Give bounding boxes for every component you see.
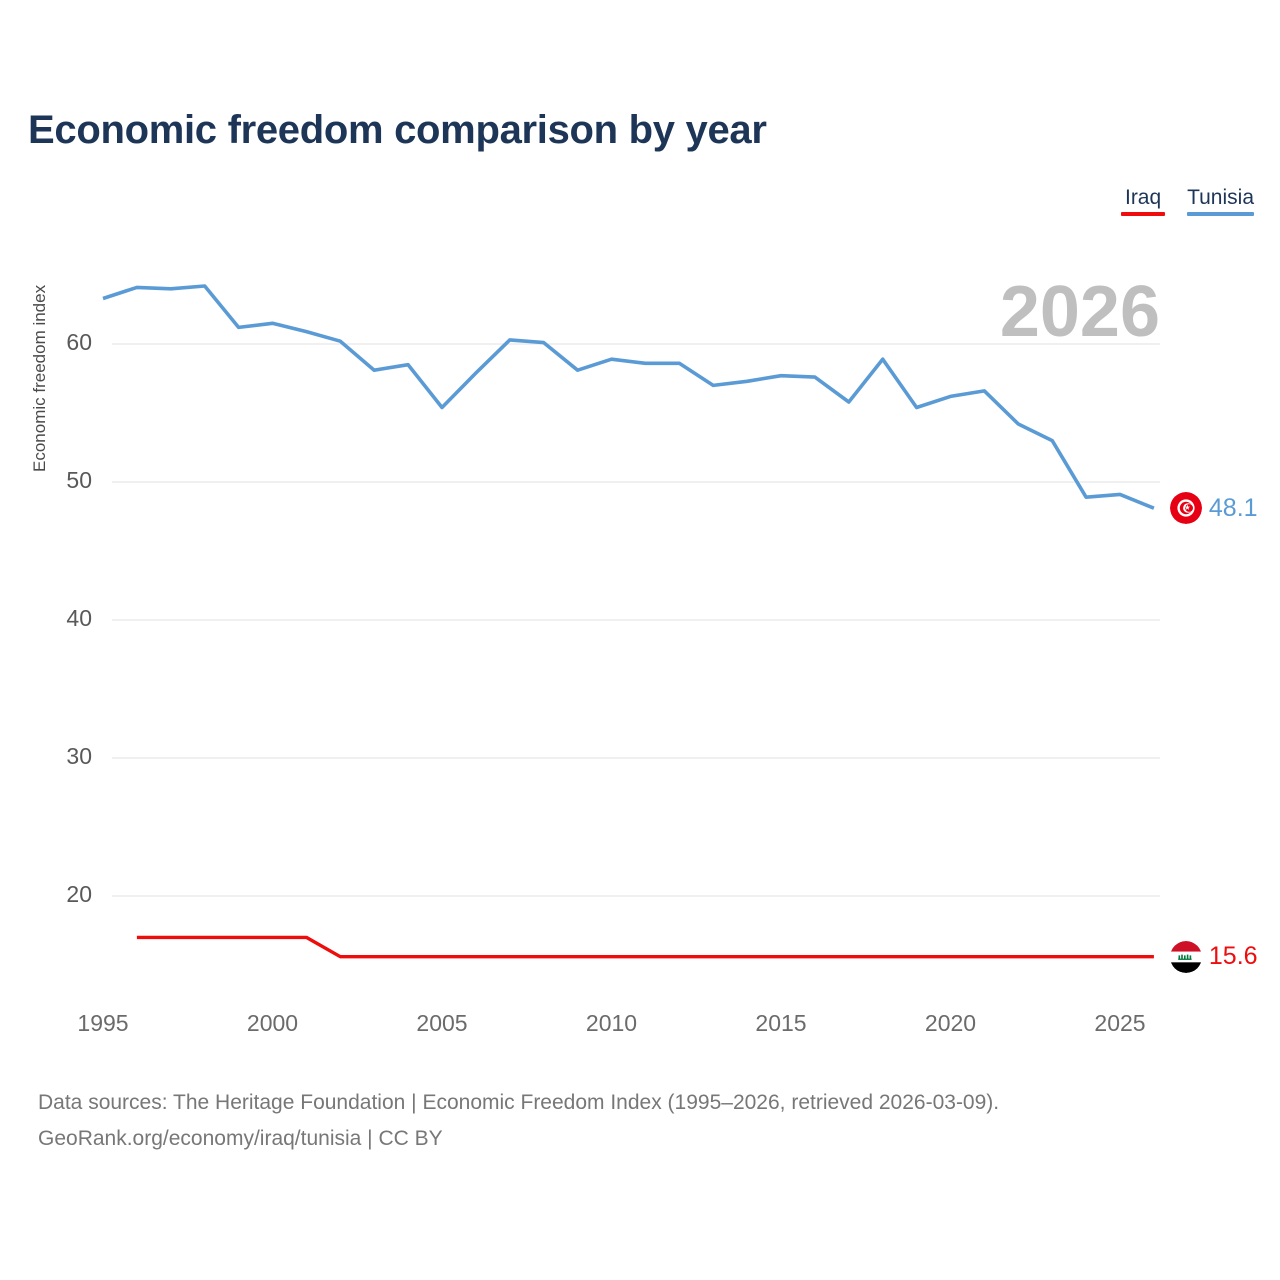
legend-swatch-iraq — [1121, 212, 1165, 216]
endpoint-value-iraq: 15.6 — [1209, 942, 1258, 971]
y-tick-label: 20 — [38, 881, 92, 908]
x-tick-label: 2020 — [925, 1010, 976, 1037]
endpoint-value-tunisia: 48.1 — [1209, 494, 1258, 523]
legend-item-iraq[interactable]: Iraq — [1121, 186, 1165, 216]
iraq-flag-icon — [1170, 941, 1202, 973]
y-axis-title: Economic freedom index — [30, 285, 50, 472]
y-tick-label: 30 — [38, 743, 92, 770]
tunisia-flag-icon — [1170, 492, 1202, 524]
legend-label-iraq: Iraq — [1125, 186, 1161, 210]
chart-container: Economic freedom comparison by year Iraq… — [0, 0, 1280, 1280]
legend-item-tunisia[interactable]: Tunisia — [1187, 186, 1254, 216]
y-tick-label: 50 — [38, 467, 92, 494]
gridlines — [112, 344, 1160, 896]
x-tick-label: 2015 — [755, 1010, 806, 1037]
x-tick-label: 2005 — [416, 1010, 467, 1037]
series-line-iraq — [137, 937, 1154, 956]
page-title: Economic freedom comparison by year — [28, 108, 767, 153]
footer-sources: Data sources: The Heritage Foundation | … — [38, 1085, 999, 1157]
x-tick-label: 1995 — [77, 1010, 128, 1037]
endpoint-tunisia[interactable]: 48.1 — [1170, 492, 1258, 524]
data-lines — [103, 286, 1154, 957]
chart-legend: Iraq Tunisia — [1121, 186, 1254, 216]
y-tick-label: 40 — [38, 605, 92, 632]
legend-swatch-tunisia — [1187, 212, 1254, 216]
endpoint-iraq[interactable]: 15.6 — [1170, 941, 1258, 973]
y-tick-label: 60 — [38, 329, 92, 356]
x-tick-label: 2000 — [247, 1010, 298, 1037]
year-watermark: 2026 — [1000, 276, 1160, 348]
footer-line-2: GeoRank.org/economy/iraq/tunisia | CC BY — [38, 1121, 999, 1157]
series-line-tunisia — [103, 286, 1154, 508]
footer-line-1: Data sources: The Heritage Foundation | … — [38, 1085, 999, 1121]
legend-label-tunisia: Tunisia — [1187, 186, 1254, 210]
x-tick-label: 2010 — [586, 1010, 637, 1037]
x-tick-label: 2025 — [1094, 1010, 1145, 1037]
